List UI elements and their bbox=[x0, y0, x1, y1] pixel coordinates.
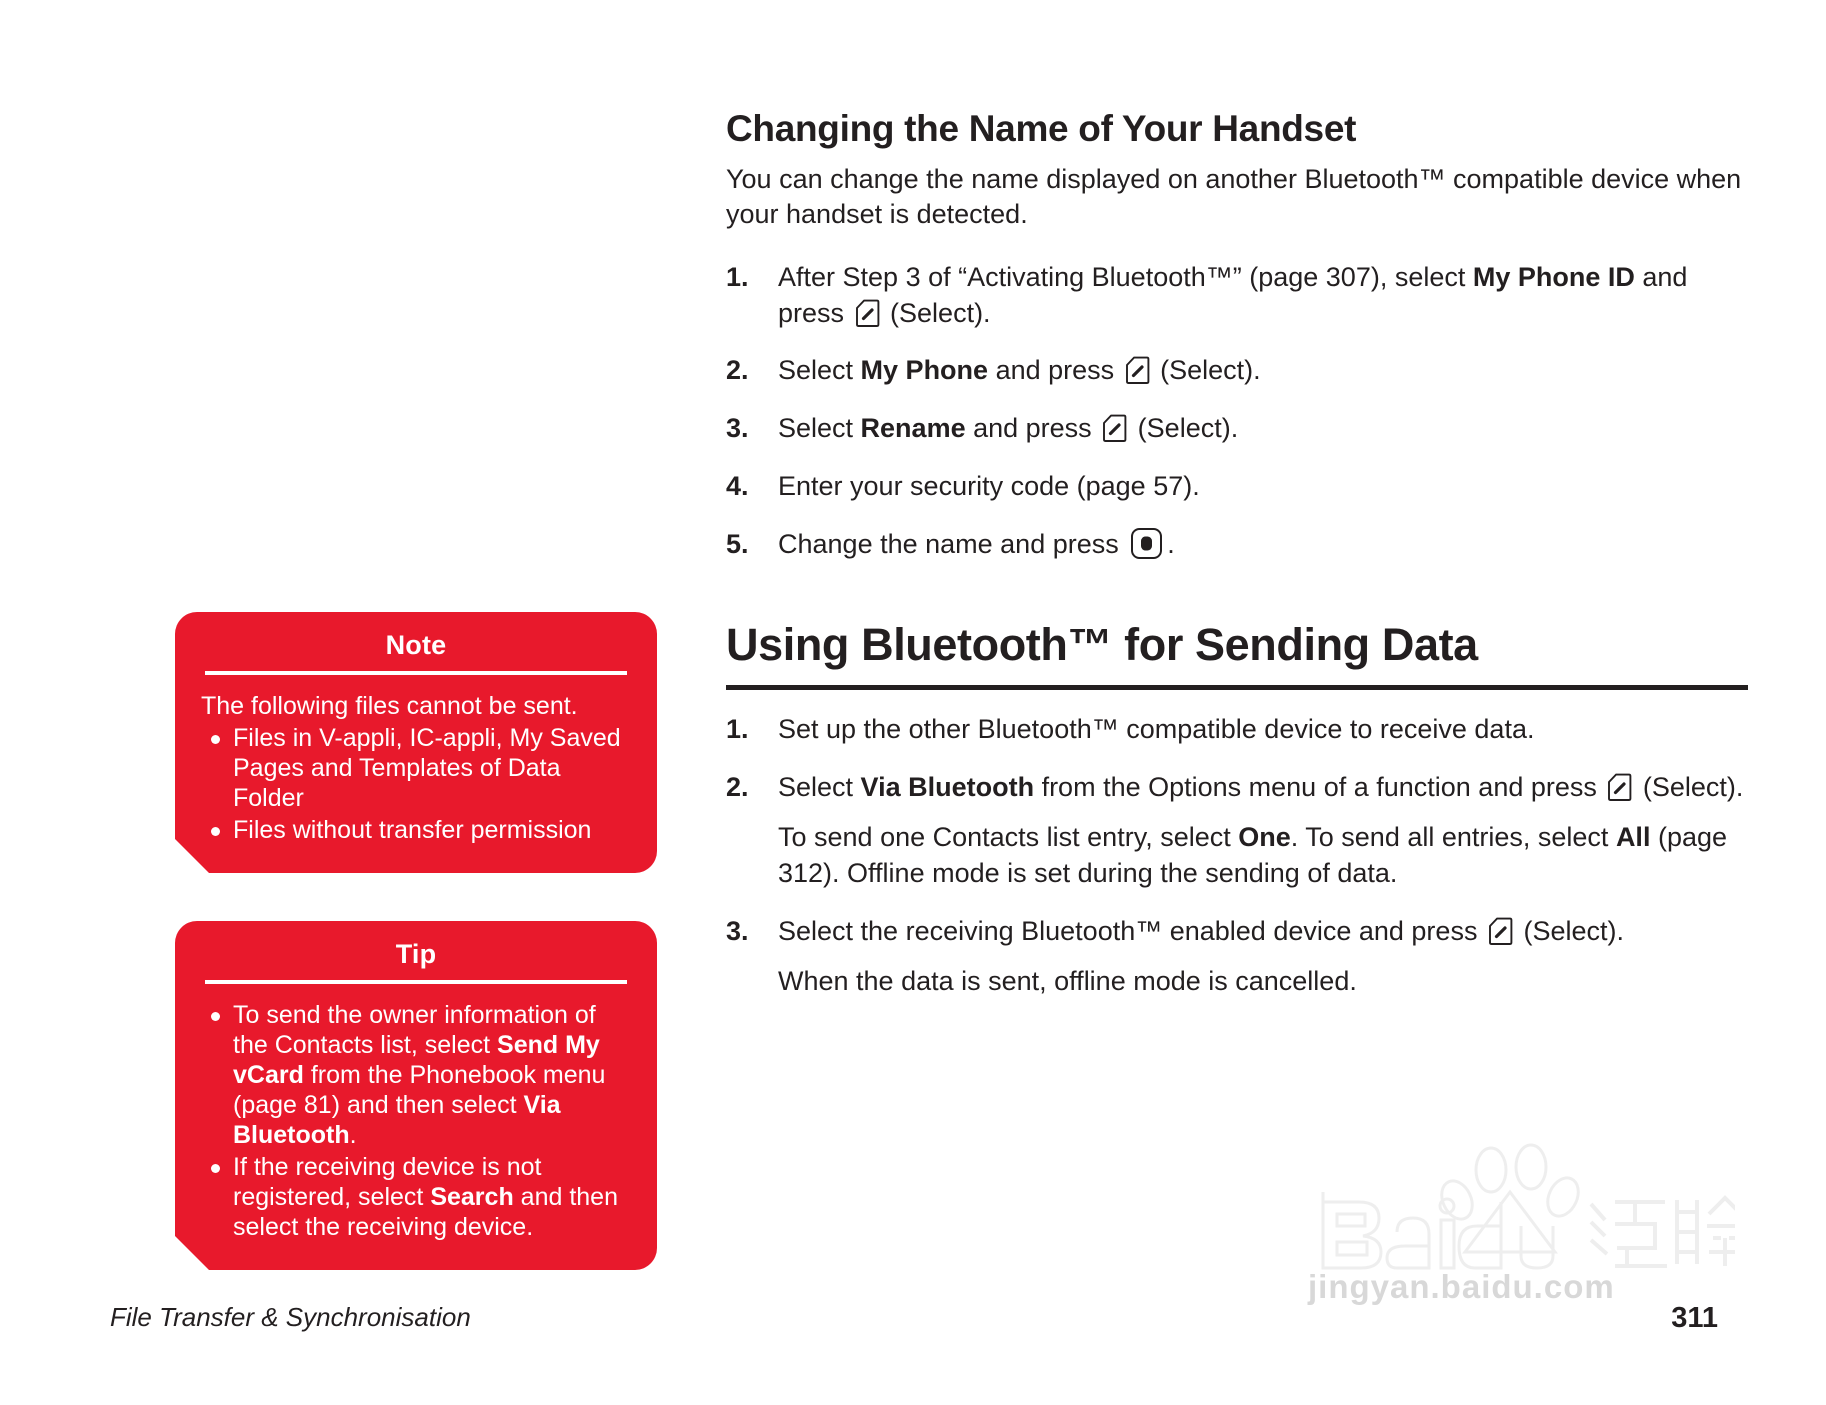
sending-data-step-list: 1.Set up the other Bluetooth™ compatible… bbox=[726, 712, 1748, 999]
send-step-3-text-pre: Select the receiving Bluetooth™ enabled … bbox=[778, 916, 1485, 946]
list-item: 5.Change the name and press . bbox=[726, 527, 1748, 563]
note-callout-body: The following files cannot be sent. File… bbox=[201, 691, 631, 845]
tip-callout-body: To send the owner information of the Con… bbox=[201, 1000, 631, 1242]
step-5-text-post: . bbox=[1167, 529, 1175, 559]
manual-page: Note The following files cannot be sent.… bbox=[0, 0, 1826, 1405]
step-4-text: Enter your security code (page 57). bbox=[778, 471, 1200, 501]
list-item: Files without transfer permission bbox=[201, 815, 631, 845]
send-step-1-text: Set up the other Bluetooth™ compatible d… bbox=[778, 714, 1534, 744]
main-content-column: Changing the Name of Your Handset You ca… bbox=[726, 108, 1748, 1022]
step-1-text-pre: After Step 3 of “Activating Bluetooth™” … bbox=[778, 262, 1473, 292]
note-lead-text: The following files cannot be sent. bbox=[201, 691, 631, 721]
select-softkey-icon bbox=[855, 299, 880, 328]
step-2-text-pre: Select bbox=[778, 355, 861, 385]
note-callout: Note The following files cannot be sent.… bbox=[175, 612, 657, 873]
step-2-text-post: (Select). bbox=[1153, 355, 1261, 385]
list-item: 3.Select the receiving Bluetooth™ enable… bbox=[726, 914, 1748, 1000]
note-bullet-list: Files in V-appli, IC-appli, My Saved Pag… bbox=[201, 723, 631, 845]
step-3-text-pre: Select bbox=[778, 413, 861, 443]
tip-callout-divider bbox=[205, 980, 627, 984]
page-title: Changing the Name of Your Handset bbox=[726, 108, 1748, 150]
send-step-2-cont-b: . To send all entries, select bbox=[1291, 822, 1616, 852]
step-1-text-post: (Select). bbox=[883, 298, 991, 328]
tip-bullet-1-text-c: . bbox=[350, 1121, 357, 1149]
step-2-bold: My Phone bbox=[861, 355, 989, 385]
send-step-2-cont-bold-2: All bbox=[1616, 822, 1651, 852]
step-3-text-post: (Select). bbox=[1130, 413, 1238, 443]
step-5-text-pre: Change the name and press bbox=[778, 529, 1126, 559]
step-number: 3. bbox=[726, 411, 749, 447]
step-number: 2. bbox=[726, 353, 749, 389]
step-3-text-mid: and press bbox=[966, 413, 1100, 443]
send-step-2-bold: Via Bluetooth bbox=[861, 772, 1035, 802]
baidu-watermark-url: jingyan.baidu.com bbox=[1308, 1268, 1615, 1306]
handset-intro-paragraph: You can change the name displayed on ano… bbox=[726, 162, 1748, 232]
send-step-2-cont-a: To send one Contacts list entry, select bbox=[778, 822, 1238, 852]
step-3-bold: Rename bbox=[861, 413, 966, 443]
note-bullet-2-text: Files without transfer permission bbox=[233, 816, 591, 844]
select-softkey-icon bbox=[1102, 414, 1127, 443]
send-step-3-continuation: When the data is sent, offline mode is c… bbox=[778, 964, 1748, 1000]
send-step-3-text-post: (Select). bbox=[1516, 916, 1624, 946]
step-number: 1. bbox=[726, 260, 749, 296]
list-item: 3.Select Rename and press (Select). bbox=[726, 411, 1748, 447]
tip-callout: Tip To send the owner information of the… bbox=[175, 921, 657, 1270]
list-item: 2.Select My Phone and press (Select). bbox=[726, 353, 1748, 389]
note-callout-divider bbox=[205, 671, 627, 675]
section-title-rule bbox=[726, 685, 1748, 690]
handset-name-step-list: 1.After Step 3 of “Activating Bluetooth™… bbox=[726, 260, 1748, 563]
list-item: 2.Select Via Bluetooth from the Options … bbox=[726, 770, 1748, 892]
select-softkey-icon bbox=[1488, 917, 1513, 946]
list-item: 4.Enter your security code (page 57). bbox=[726, 469, 1748, 505]
send-step-2-text-pre: Select bbox=[778, 772, 861, 802]
step-number: 5. bbox=[726, 527, 749, 563]
send-step-2-cont-bold-1: One bbox=[1238, 822, 1291, 852]
step-number: 4. bbox=[726, 469, 749, 505]
center-key-icon bbox=[1130, 527, 1163, 560]
tip-bullet-list: To send the owner information of the Con… bbox=[201, 1000, 631, 1242]
list-item: 1.Set up the other Bluetooth™ compatible… bbox=[726, 712, 1748, 748]
step-number: 1. bbox=[726, 712, 749, 748]
tip-callout-title: Tip bbox=[201, 939, 631, 980]
list-item: 1.After Step 3 of “Activating Bluetooth™… bbox=[726, 260, 1748, 332]
list-item: Files in V-appli, IC-appli, My Saved Pag… bbox=[201, 723, 631, 813]
section-spacer bbox=[726, 585, 1748, 619]
list-item: If the receiving device is not registere… bbox=[201, 1152, 631, 1242]
callout-column: Note The following files cannot be sent.… bbox=[175, 612, 657, 1318]
send-step-2-text-post: (Select). bbox=[1635, 772, 1743, 802]
send-step-2-continuation: To send one Contacts list entry, select … bbox=[778, 820, 1748, 892]
note-bullet-1-text: Files in V-appli, IC-appli, My Saved Pag… bbox=[233, 724, 621, 812]
step-number: 3. bbox=[726, 914, 749, 950]
step-number: 2. bbox=[726, 770, 749, 806]
section-title: Using Bluetooth™ for Sending Data bbox=[726, 619, 1748, 671]
page-number: 311 bbox=[1671, 1302, 1718, 1335]
select-softkey-icon bbox=[1125, 356, 1150, 385]
select-softkey-icon bbox=[1607, 773, 1632, 802]
step-2-text-mid: and press bbox=[988, 355, 1122, 385]
tip-bullet-2-bold-1: Search bbox=[430, 1183, 513, 1211]
send-step-2-text-mid: from the Options menu of a function and … bbox=[1034, 772, 1604, 802]
list-item: To send the owner information of the Con… bbox=[201, 1000, 631, 1150]
step-1-bold: My Phone ID bbox=[1473, 262, 1635, 292]
note-callout-title: Note bbox=[201, 630, 631, 671]
footer-section-label: File Transfer & Synchronisation bbox=[110, 1302, 471, 1333]
